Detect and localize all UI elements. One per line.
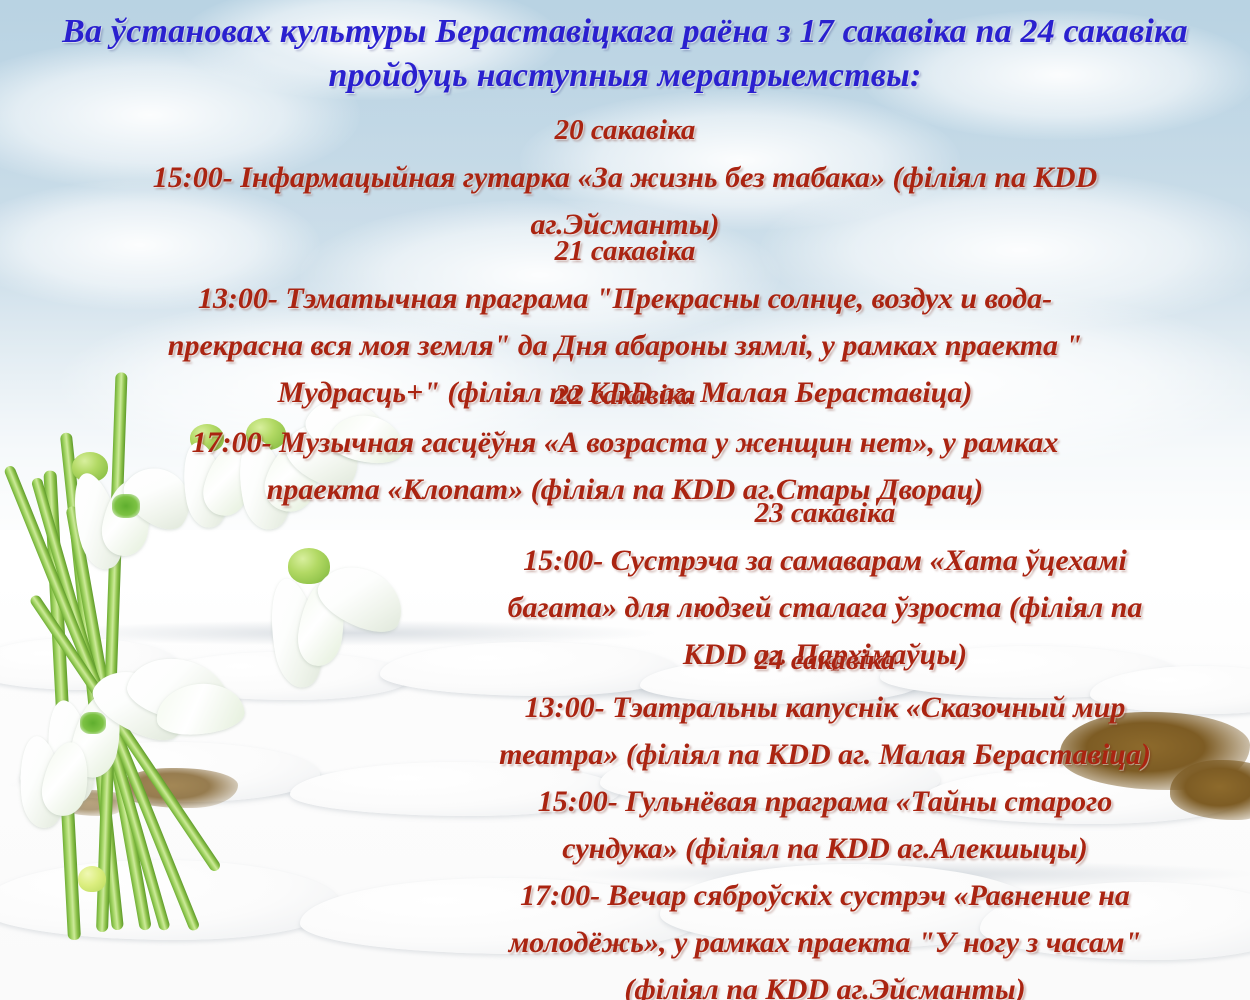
- schedule-line: 17:00- Музычная гасцёўня «А возраста у ж…: [10, 419, 1240, 466]
- schedule-line: театра» (філіял па КDD аг. Малая Бераста…: [430, 731, 1220, 778]
- schedule-line: (філіял па КDD аг.Эйсманты): [430, 966, 1220, 1000]
- schedule-line: 15:00- Інфармацыйная гутарка «За жизнь б…: [10, 154, 1240, 201]
- schedule-line: прекрасна вся моя земля" да Дня абароны …: [10, 322, 1240, 369]
- schedule-line: 17:00- Вечар сяброўскіх сустрэч «Равнени…: [430, 872, 1220, 919]
- schedule-line: 15:00- Сустрэча за самаварам «Хата ўцеха…: [430, 537, 1220, 584]
- schedule-line: молодёжь», у рамках праекта "У ногу з ча…: [430, 919, 1220, 966]
- schedule-line: сундука» (філіял па КDD аг.Алекшыцы): [430, 825, 1220, 872]
- schedule-line: 13:00- Тэматычная праграма "Прекрасны со…: [10, 275, 1240, 322]
- schedule-line: багата» для людзей сталага ўзроста (філі…: [430, 584, 1220, 631]
- schedule-date: 20 сакавіка: [10, 107, 1240, 154]
- schedule-date: 24 сакавіка: [430, 637, 1220, 684]
- schedule-block-24: 24 сакавіка 13:00- Тэатральны капуснік «…: [430, 637, 1220, 1000]
- schedule-date: 22 сакавіка: [10, 372, 1240, 419]
- schedule-line: 15:00- Гульнёвая праграма «Тайны старого: [430, 778, 1220, 825]
- schedule-date: 21 сакавіка: [10, 228, 1240, 275]
- schedule-date: 23 сакавіка: [430, 490, 1220, 537]
- page-title: Ва ўстановах культуры Бераставіцкага раё…: [0, 10, 1250, 98]
- poster-canvas: Ва ўстановах культуры Бераставіцкага раё…: [0, 0, 1250, 1000]
- schedule-line: 13:00- Тэатральны капуснік «Сказочный ми…: [430, 684, 1220, 731]
- schedule-block-20: 20 сакавіка 15:00- Інфармацыйная гутарка…: [10, 107, 1240, 248]
- text-layer: Ва ўстановах культуры Бераставіцкага раё…: [0, 0, 1250, 1000]
